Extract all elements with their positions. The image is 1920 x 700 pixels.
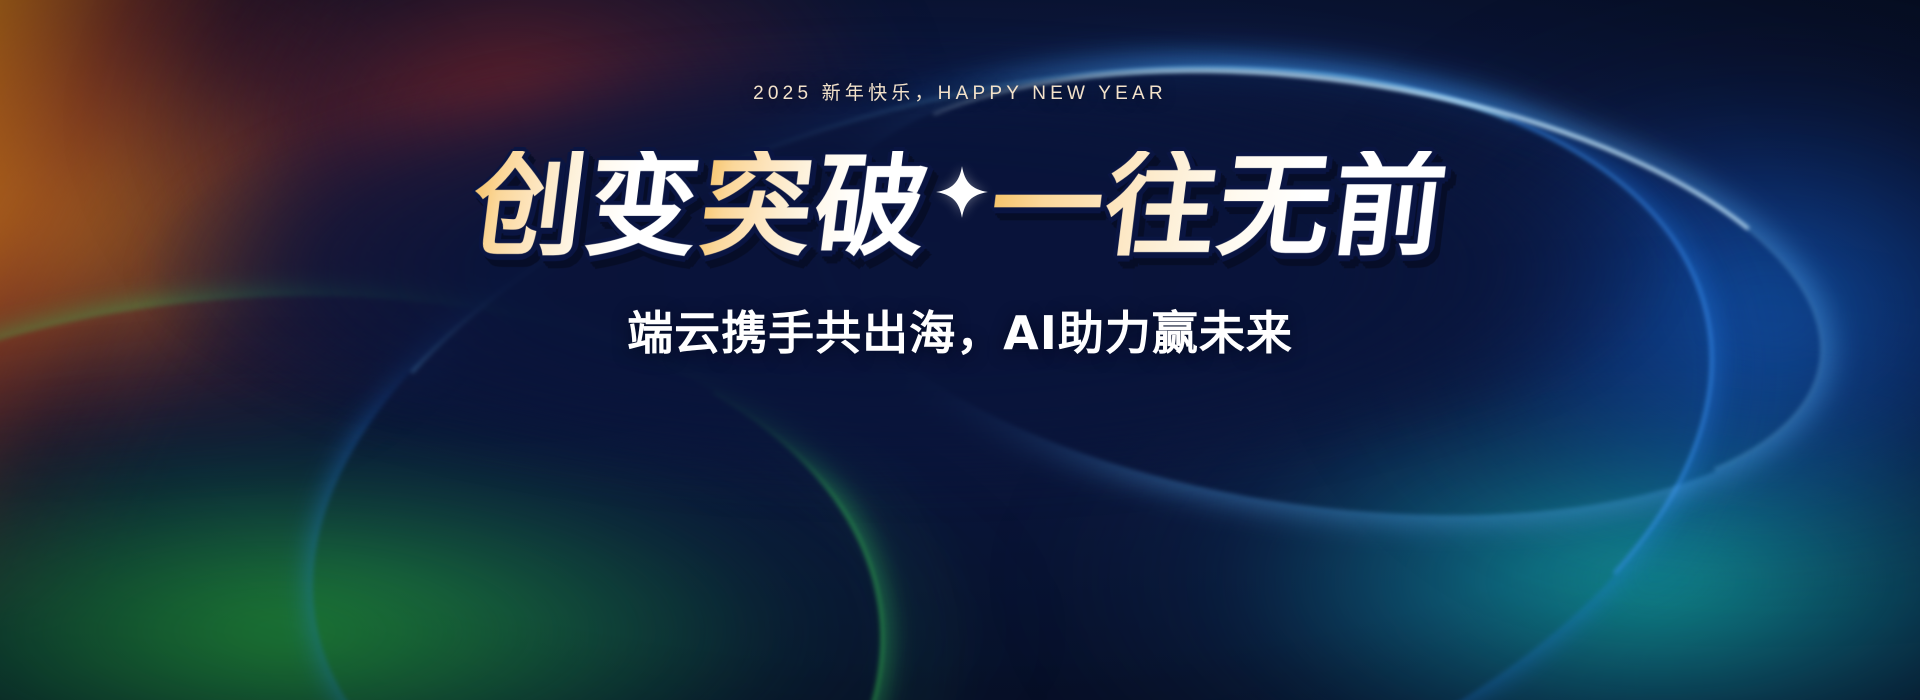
- headline-row: 创变 突破 一往无前: [473, 151, 1447, 263]
- banner-content: 2025 新年快乐，HAPPY NEW YEAR 创变 突破 一往无前 端云携手…: [0, 0, 1920, 700]
- headline-segment-chuangbian: 创变: [466, 151, 708, 263]
- headline-segment-tupo: 突破: [694, 151, 936, 263]
- headline-segment-yiwangwuqian: 一往无前: [984, 151, 1454, 263]
- new-year-hero-banner: 2025 新年快乐，HAPPY NEW YEAR 创变 突破 一往无前 端云携手…: [0, 0, 1920, 700]
- eyebrow-text: 2025 新年快乐，HAPPY NEW YEAR: [753, 78, 1167, 105]
- subheadline-text: 端云携手共出海，AI助力赢未来: [627, 297, 1293, 363]
- sparkle-four-point-icon: [935, 165, 989, 219]
